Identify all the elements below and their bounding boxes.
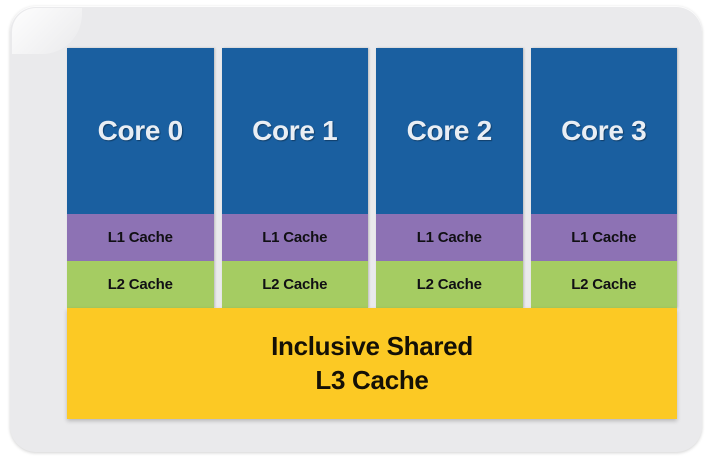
l1-cache-block-2[interactable]: L1 Cache bbox=[376, 214, 523, 261]
core-column-2[interactable]: Core 2 L1 Cache L2 Cache bbox=[376, 48, 523, 308]
l3-cache-label-line1: Inclusive Shared bbox=[271, 330, 473, 363]
l2-cache-block-0[interactable]: L2 Cache bbox=[67, 261, 214, 308]
l2-cache-block-3[interactable]: L2 Cache bbox=[531, 261, 678, 308]
l2-cache-block-1[interactable]: L2 Cache bbox=[222, 261, 369, 308]
l1-cache-label-3: L1 Cache bbox=[571, 229, 636, 246]
core-column-3[interactable]: Core 3 L1 Cache L2 Cache bbox=[531, 48, 678, 308]
l1-cache-label-1: L1 Cache bbox=[262, 229, 327, 246]
core-block-2[interactable]: Core 2 bbox=[376, 48, 523, 214]
l2-cache-label-0: L2 Cache bbox=[108, 276, 173, 293]
l2-cache-label-2: L2 Cache bbox=[417, 276, 482, 293]
core-block-0[interactable]: Core 0 bbox=[67, 48, 214, 214]
core-label-2: Core 2 bbox=[407, 115, 492, 147]
core-label-0: Core 0 bbox=[98, 115, 183, 147]
l2-cache-label-3: L2 Cache bbox=[571, 276, 636, 293]
l2-cache-block-2[interactable]: L2 Cache bbox=[376, 261, 523, 308]
cpu-package-panel: Core 0 L1 Cache L2 Cache Core 1 L1 Cache… bbox=[10, 6, 702, 452]
core-label-3: Core 3 bbox=[561, 115, 646, 147]
l2-cache-label-1: L2 Cache bbox=[262, 276, 327, 293]
core-column-0[interactable]: Core 0 L1 Cache L2 Cache bbox=[67, 48, 214, 308]
core-column-1[interactable]: Core 1 L1 Cache L2 Cache bbox=[222, 48, 369, 308]
core-label-1: Core 1 bbox=[252, 115, 337, 147]
l1-cache-label-0: L1 Cache bbox=[108, 229, 173, 246]
l1-cache-block-3[interactable]: L1 Cache bbox=[531, 214, 678, 261]
diagram-canvas: Core 0 L1 Cache L2 Cache Core 1 L1 Cache… bbox=[0, 0, 726, 462]
l1-cache-label-2: L1 Cache bbox=[417, 229, 482, 246]
l3-shared-cache-block[interactable]: Inclusive Shared L3 Cache bbox=[67, 308, 677, 419]
core-block-3[interactable]: Core 3 bbox=[531, 48, 678, 214]
l3-cache-label-line2: L3 Cache bbox=[315, 364, 428, 397]
cores-row: Core 0 L1 Cache L2 Cache Core 1 L1 Cache… bbox=[67, 48, 677, 308]
l1-cache-block-0[interactable]: L1 Cache bbox=[67, 214, 214, 261]
core-block-1[interactable]: Core 1 bbox=[222, 48, 369, 214]
l1-cache-block-1[interactable]: L1 Cache bbox=[222, 214, 369, 261]
